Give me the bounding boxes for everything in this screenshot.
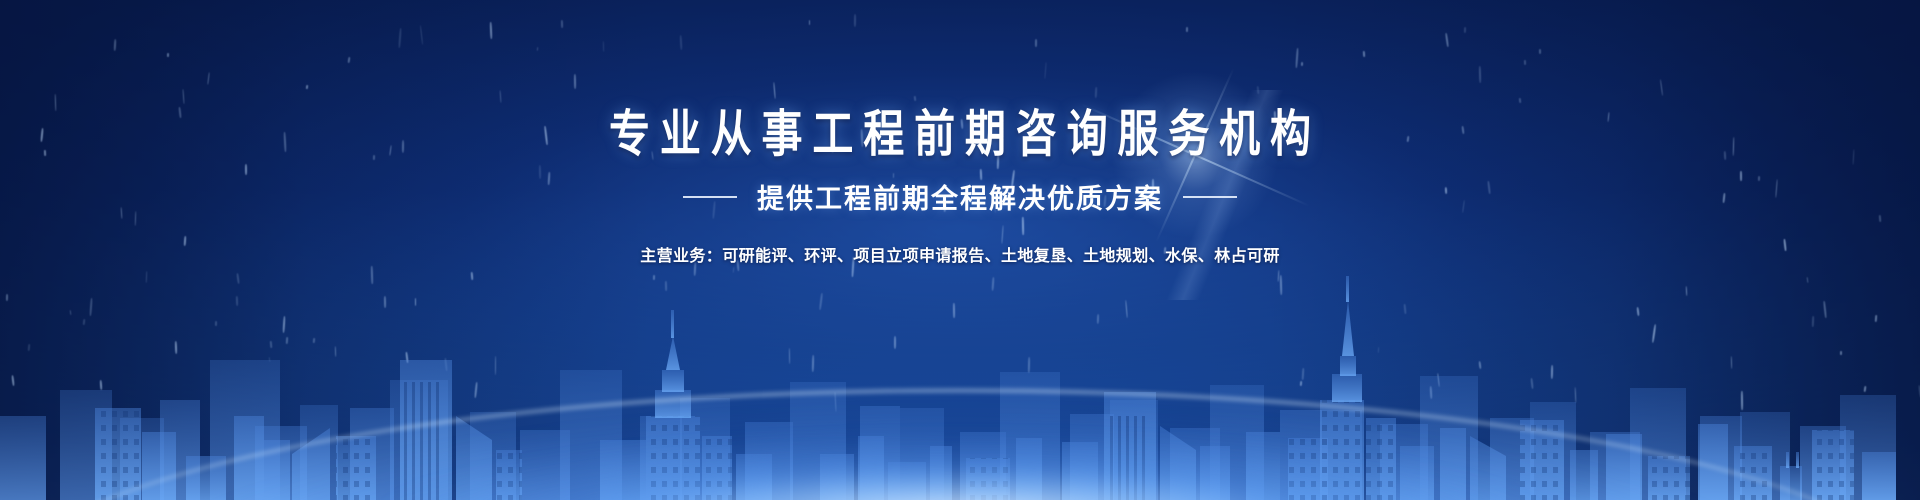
banner-subtitle-row: 提供工程前期全程解决优质方案 xyxy=(0,177,1920,216)
dash-right-decoration xyxy=(1183,196,1237,198)
banner-content: 专业从事工程前期咨询服务机构 提供工程前期全程解决优质方案 主营业务：可研能评、… xyxy=(0,0,1920,266)
horizon-core-glow xyxy=(370,400,1550,500)
hero-banner: 专业从事工程前期咨询服务机构 提供工程前期全程解决优质方案 主营业务：可研能评、… xyxy=(0,0,1920,500)
banner-headline: 专业从事工程前期咨询服务机构 xyxy=(173,0,1747,161)
banner-tagline: 主营业务：可研能评、环评、项目立项申请报告、土地复垦、土地规划、水保、林占可研 xyxy=(0,242,1920,266)
dash-left-decoration xyxy=(683,196,737,198)
banner-subtitle: 提供工程前期全程解决优质方案 xyxy=(757,177,1163,216)
